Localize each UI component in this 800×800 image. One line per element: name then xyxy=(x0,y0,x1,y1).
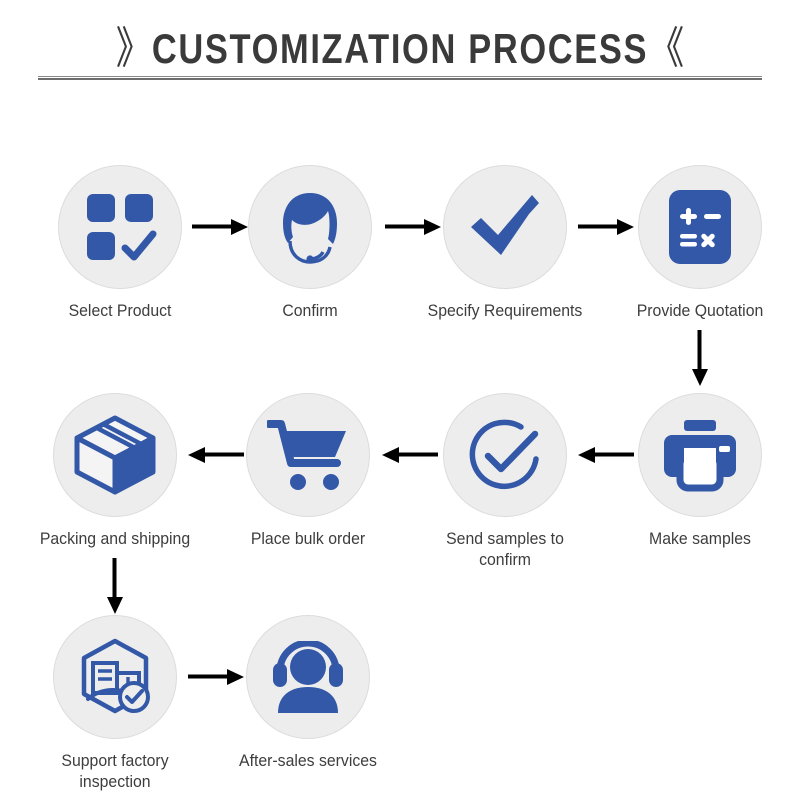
arrow-4-to-5 xyxy=(688,330,712,386)
title-divider xyxy=(38,76,762,80)
step-node-provide-quotation[interactable]: Provide Quotation xyxy=(610,165,790,321)
step-node-send-samples-to-confirm[interactable]: Send samples to confirm xyxy=(415,393,595,570)
step-label: Support factory inspection xyxy=(31,750,198,792)
step-icon-circle xyxy=(53,393,177,517)
step-label: Place bulk order xyxy=(224,528,391,549)
step-label: Provide Quotation xyxy=(616,300,783,321)
grid-check-icon xyxy=(83,190,157,264)
page-title: 》CUSTOMIZATION PROCESS《 xyxy=(72,12,728,76)
step-node-specify-requirements[interactable]: Specify Requirements xyxy=(415,165,595,321)
step-icon-circle xyxy=(58,165,182,289)
headset-person-icon xyxy=(268,641,348,713)
step-icon-circle xyxy=(53,615,177,739)
step-node-support-factory-inspection[interactable]: Support factory inspection xyxy=(25,615,205,792)
step-node-place-bulk-order[interactable]: Place bulk order xyxy=(218,393,398,549)
circle-check-icon xyxy=(465,415,545,495)
step-label: Send samples to confirm xyxy=(421,528,588,570)
checkmark-icon xyxy=(465,187,545,267)
step-icon-circle xyxy=(638,165,762,289)
printer-icon xyxy=(660,418,740,492)
calculator-icon xyxy=(665,188,735,266)
arrow-1-to-2 xyxy=(192,215,248,239)
arrow-8-to-9 xyxy=(103,558,127,614)
step-label: After-sales services xyxy=(224,750,391,771)
step-icon-circle xyxy=(246,393,370,517)
step-icon-circle xyxy=(443,393,567,517)
step-node-after-sales-services[interactable]: After-sales services xyxy=(218,615,398,771)
step-node-packing-and-shipping[interactable]: Packing and shipping xyxy=(25,393,205,549)
arrow-5-to-6 xyxy=(578,443,634,467)
arrow-7-to-8 xyxy=(188,443,244,467)
package-box-icon xyxy=(73,415,157,495)
step-node-select-product[interactable]: Select Product xyxy=(30,165,210,321)
step-icon-circle xyxy=(248,165,372,289)
arrow-9-to-10 xyxy=(188,665,244,689)
factory-inspection-icon xyxy=(74,637,156,717)
step-label: Confirm xyxy=(226,300,393,321)
customer-service-agent-icon xyxy=(270,187,350,267)
page-title-text: CUSTOMIZATION PROCESS xyxy=(152,25,648,72)
step-label: Packing and shipping xyxy=(31,528,198,549)
step-node-make-samples[interactable]: Make samples xyxy=(610,393,790,549)
step-label: Make samples xyxy=(616,528,783,549)
page-header: 》CUSTOMIZATION PROCESS《 xyxy=(0,0,800,95)
arrow-3-to-4 xyxy=(578,215,634,239)
step-node-confirm[interactable]: Confirm xyxy=(220,165,400,321)
step-icon-circle xyxy=(638,393,762,517)
step-label: Specify Requirements xyxy=(421,300,588,321)
arrow-2-to-3 xyxy=(385,215,441,239)
shopping-cart-icon xyxy=(267,417,349,493)
step-icon-circle xyxy=(246,615,370,739)
arrow-6-to-7 xyxy=(382,443,438,467)
right-chevron-icon: 《 xyxy=(648,24,684,73)
step-label: Select Product xyxy=(36,300,203,321)
left-chevron-icon: 》 xyxy=(116,24,152,73)
step-icon-circle xyxy=(443,165,567,289)
